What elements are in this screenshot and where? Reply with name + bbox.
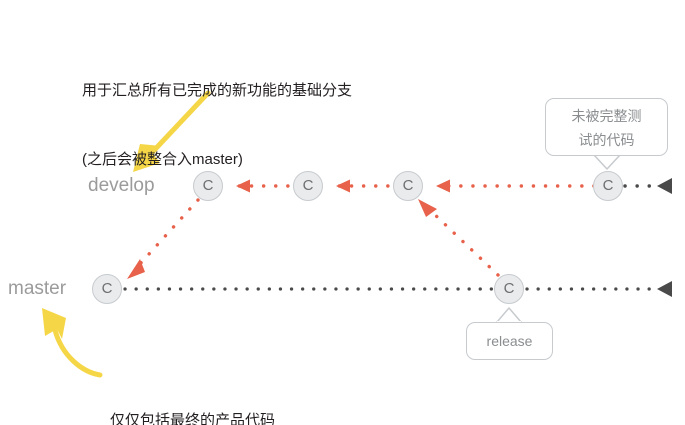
untested-callout-tail xyxy=(594,155,620,169)
release-callout-tail xyxy=(497,308,521,322)
annotation-develop-note-line2: (之后会被整合入master) xyxy=(82,148,352,171)
commit-node-master-1[interactable]: C xyxy=(92,274,122,304)
annotation-develop-note-line1: 用于汇总所有已完成的新功能的基础分支 xyxy=(82,79,352,102)
commit-node-develop-3[interactable]: C xyxy=(393,171,423,201)
yellow-arrow-bottom xyxy=(42,308,100,375)
develop-end-arrowhead xyxy=(657,178,672,194)
commit-node-develop-4[interactable]: C xyxy=(593,171,623,201)
develop-arrowhead-3 xyxy=(436,180,450,193)
callout-untested-line1: 未被完整测 xyxy=(546,104,667,128)
merge-arrowhead-2 xyxy=(418,199,437,217)
annotation-master-note-line1: 仅仅包括最终的产品代码 xyxy=(110,409,275,425)
callout-untested-code[interactable]: 未被完整测 试的代码 xyxy=(545,98,668,156)
master-end-arrowhead xyxy=(657,281,672,297)
commit-node-master-2[interactable]: C xyxy=(494,274,524,304)
callout-untested-line2: 试的代码 xyxy=(546,128,667,152)
branch-label-master: master xyxy=(8,279,66,298)
diagram-canvas: develop master C C C C C C 未被完整测 试的代码 re… xyxy=(0,0,685,425)
annotation-master-note: 仅仅包括最终的产品代码 不可对其进行直接提交。 xyxy=(110,363,275,425)
merge-arrow-release-to-develop xyxy=(418,199,498,275)
callout-release[interactable]: release xyxy=(466,322,553,360)
annotation-develop-note: 用于汇总所有已完成的新功能的基础分支 (之后会被整合入master) xyxy=(82,33,352,217)
merge-line-2 xyxy=(431,211,498,275)
master-timeline xyxy=(125,281,672,297)
